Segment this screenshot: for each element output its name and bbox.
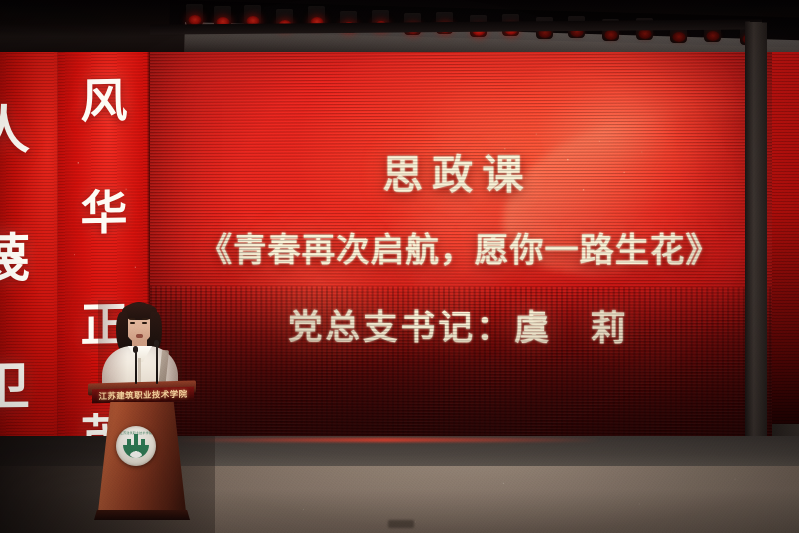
banner-far-characters: 人 蔑 卫 bbox=[0, 30, 34, 438]
banner-char: 人 bbox=[0, 68, 30, 197]
microphone-stem-icon bbox=[135, 352, 137, 384]
led-screen: 思政课 《青春再次启航，愿你一路生花》 党总支书记：虞 莉 bbox=[150, 23, 772, 441]
banner-char: 华 bbox=[81, 158, 128, 271]
emblem-glyph bbox=[123, 436, 149, 458]
banner-char: 卫 bbox=[0, 324, 30, 438]
side-banner-far-left: 人 蔑 卫 bbox=[0, 30, 60, 439]
banner-char: 风 bbox=[81, 46, 128, 159]
podium-sign-text: 江苏建筑职业技术学院 bbox=[98, 388, 187, 402]
microphone-head-icon bbox=[154, 340, 159, 347]
led-screen-text-block: 思政课 《青春再次启航，愿你一路生花》 党总支书记：虞 莉 bbox=[150, 23, 772, 441]
red-light-streak bbox=[170, 438, 600, 442]
eyebrow-right bbox=[142, 318, 148, 320]
podium-institution-sign: 江苏建筑职业技术学院 bbox=[92, 387, 194, 404]
microphone-head-icon bbox=[133, 346, 138, 353]
speaker-title-line: 党总支书记：虞 莉 bbox=[288, 299, 629, 350]
floor-object bbox=[388, 520, 414, 528]
eye-left bbox=[130, 322, 135, 324]
podium-base bbox=[94, 510, 190, 520]
led-screen-right-frame bbox=[745, 22, 767, 443]
lecture-subtitle: 《青春再次启航，愿你一路生花》 bbox=[199, 223, 721, 272]
banner-char: 蔑 bbox=[0, 196, 30, 325]
mouth bbox=[136, 334, 143, 338]
podium: 江苏建筑职业技术学院 江苏建筑职业技术学院 bbox=[88, 382, 196, 533]
school-emblem: 江苏建筑职业技术学院 bbox=[116, 426, 156, 466]
eyebrow-left bbox=[129, 318, 135, 320]
stage-photo-scene: 人 蔑 卫 风 华 正 茂 思政课 《青春再次启航，愿你一路生花》 党总支书记：… bbox=[0, 0, 799, 533]
emblem-bowl bbox=[123, 445, 149, 458]
stage-light-icon bbox=[186, 4, 203, 26]
eye-right bbox=[142, 322, 147, 324]
microphone-stem-icon bbox=[156, 346, 158, 384]
lecture-title: 思政课 bbox=[382, 142, 532, 201]
